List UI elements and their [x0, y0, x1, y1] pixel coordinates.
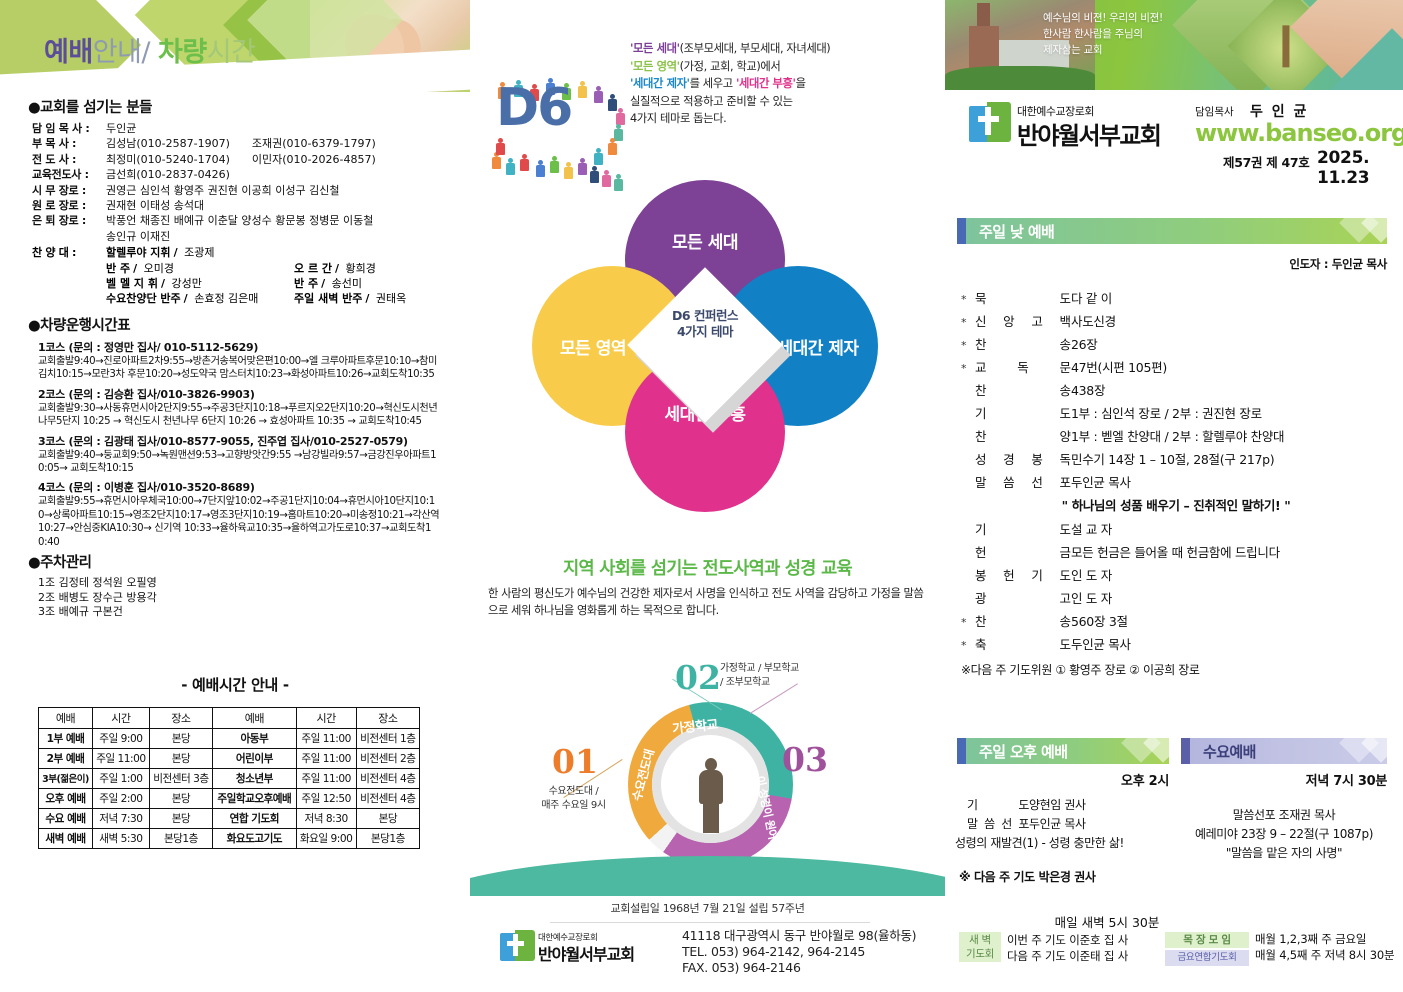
staff-role-label: 원 로 장로 :: [32, 198, 106, 213]
table-header-row: 예배시간장소예배시간장소: [39, 707, 420, 728]
staff-row: 전 도 사 :최정미(010-5240-1704)이민자(010-2026-48…: [32, 152, 470, 167]
mission-body: 한 사람의 평신도가 예수님의 건강한 제자로서 사명을 인식하고 전도 사역을…: [488, 585, 928, 619]
table-cell: 주일학교오후예배: [213, 788, 297, 808]
afternoon-sermon-title: 성령의 재발견(1) - 성령 충만한 삶!: [955, 834, 1182, 853]
order-label: 축도: [975, 634, 1071, 653]
donut-number-03: 03: [782, 740, 828, 779]
bus-course: 3코스 (문의 : 김광태 집사/010-8577-9055, 진주엽 집사/0…: [38, 433, 470, 476]
choir-role-group-2: 반 주/ 송선미: [294, 276, 362, 291]
table-cell: 청소년부: [213, 768, 297, 788]
d6-desc-l1a: '모든 세대': [630, 42, 680, 55]
table-cell: 비전센터 2층: [356, 748, 419, 768]
table-body: 1부 예배주일 9:00본당아동부주일 11:00비전센터 1층2부 예배주일 …: [39, 728, 420, 848]
table-cell: 아동부: [213, 728, 297, 748]
right-panel: 예수님의 비젼! 우리의 비젼! 한사람 한사람을 주님의 제자삼는 교회 대한…: [945, 0, 1403, 992]
order-value: 47번(시편 105편): [1071, 357, 1167, 376]
church-founding-text: 교회설립일 1968년 7월 21일 설립 57주년: [470, 900, 945, 916]
footer-divider: [550, 922, 870, 923]
choir-row: 찬 양 대 :할렐루야 지휘/ 조광제: [32, 245, 470, 260]
person-silhouette-icon: [698, 758, 724, 833]
staff-name-value: 두인균: [106, 121, 136, 136]
sub-worship-row: 말씀선포 조재권 목사: [1181, 806, 1387, 825]
friday-prayer-tag: 금요연합기도회: [1165, 950, 1249, 966]
choir-role: 반 주: [106, 262, 130, 275]
venn-label-left: 모든 영역: [560, 334, 626, 359]
table-cell: 3부(젊은이): [39, 768, 93, 788]
staff-name-value: 권영근 심인석 황영주 권진현 이공희 이성구 김신철: [106, 183, 340, 198]
order-star: *: [961, 639, 975, 652]
worship-order-row: 봉헌기도인 도 자: [961, 565, 1391, 588]
church-logo-icon-header: [969, 102, 1011, 146]
sub-worship-row: 말씀선포두인균 목사: [967, 815, 1182, 834]
table-cell: 비전센터 4층: [356, 788, 419, 808]
d6-desc-l2b: (가정, 교회, 학교)에서: [680, 60, 781, 73]
choir-role-group: 할렐루야 지휘/ 조광제: [106, 245, 294, 260]
order-label: 말씀선포: [975, 472, 1071, 491]
order-value: 인 도 자: [1071, 565, 1112, 584]
order-value: 설 교 자: [1071, 519, 1112, 538]
friday-prayer-schedule: 매월 4,5째 주 저녁 8시 30분: [1255, 947, 1394, 963]
table-cell: 주일 11:00: [296, 728, 356, 748]
staff-name-value: 권재현 이태성 송석대: [106, 198, 204, 213]
staff-row: 교육전도사 :금선희(010-2837-0426): [32, 167, 470, 182]
choir-section-label: [32, 261, 106, 276]
pastor-name: 두 인 균: [1250, 101, 1308, 121]
parking-section-heading: ●주차관리: [28, 551, 470, 572]
volume-number: 제57권 제 47호: [1223, 152, 1310, 171]
staff-name-value-2: 이민자(010-2026-4857): [252, 152, 376, 167]
table-cell: 주일 12:50: [296, 788, 356, 808]
choir-role: 할렐루야 지휘: [106, 246, 171, 259]
sub-worship-row: 기도양현임 권사: [967, 796, 1182, 815]
venn-center-label: D6 컨퍼런스 4가지 테마: [650, 308, 760, 340]
worship-table-title: - 예배시간 안내 -: [0, 674, 470, 695]
order-star: *: [961, 293, 975, 306]
person-figure-icon: [506, 158, 516, 176]
dawn-prayer-tag: 새 벽 기도회: [959, 932, 1001, 962]
person-figure-icon: [578, 158, 588, 176]
donut-text-02: 가정학교 / 부모학교 / 조부모학교: [720, 662, 860, 690]
order-label: 광고: [975, 588, 1071, 607]
order-value: 사도신경: [1071, 311, 1116, 330]
dawn-prayer-time: 매일 새벽 5시 30분: [957, 912, 1257, 931]
table-cell: 저녁 7:30: [92, 808, 149, 828]
order-value: 560장 3절: [1071, 611, 1128, 630]
dawn-prayer-this-week: 이번 주 기도 이준호 집 사: [1007, 932, 1128, 948]
parking-group: 1조 김정테 정석원 오필영: [38, 576, 470, 591]
order-star: *: [961, 616, 975, 629]
footer-church-name: 반야월서부교회: [538, 941, 634, 965]
table-cell: 본당: [356, 808, 419, 828]
worship-order-row: 찬송438장: [961, 380, 1391, 403]
bus-section-heading: ●차량운행시간표: [28, 314, 470, 335]
order-value: 민수기 14장 1 – 10절, 28절(구 217p): [1071, 449, 1274, 468]
bus-course-route: 교회출발9:30→사동휴먼시아2단지9:55→주공3단지10:18→푸르지오2단…: [38, 402, 440, 429]
staff-role-label: 부 목 사 :: [32, 136, 106, 151]
worship-order-row: 찬양1부 : 벧엘 찬양대 / 2부 : 할렐루야 찬양대: [961, 426, 1391, 449]
church-name: 반야월서부교회: [1017, 116, 1160, 151]
choir-role-group: 수요찬양단 반주/ 손효정 김은매: [106, 291, 294, 306]
worship-order-row: *찬송560장 3절: [961, 611, 1391, 634]
worship-order-row: 헌금모든 헌금은 들어올 때 헌금함에 드립니다: [961, 542, 1391, 565]
order-value: 26장: [1071, 334, 1098, 353]
d6-desc-l3b: 를 세우고: [690, 77, 736, 90]
church-logo-icon: [500, 930, 535, 965]
left-body: ●교회를 섬기는 분들 담 임 목 사 :두인균부 목 사 :김성남(010-2…: [0, 96, 470, 849]
order-value: 인 도 자: [1071, 588, 1112, 607]
order-label: 찬송: [975, 334, 1071, 353]
decorative-wave: [470, 848, 945, 896]
choir-role: 벨 멜 지 휘: [106, 277, 158, 290]
church-website-url[interactable]: www.banseo.org: [1195, 119, 1403, 147]
table-cell: 주일 11:00: [296, 748, 356, 768]
footer-address: 41118 대구광역시 동구 반야월로 98(율하동) TEL. 053) 96…: [682, 928, 916, 976]
dawn-prayer-next-week: 다음 주 기도 이준태 집 사: [1007, 948, 1128, 964]
title-part-3: 차량: [158, 37, 207, 68]
bus-course-list: 1코스 (문의 : 정영만 집사/ 010-5112-5629)교회출발9:40…: [0, 339, 470, 549]
d6-desc-l1b: (조부모세대, 부모세대, 자녀세대): [680, 42, 831, 55]
order-star: *: [961, 362, 975, 375]
sub-order-label: 기도: [967, 796, 1029, 815]
table-cell: 비전센터 1층: [356, 728, 419, 748]
person-figure-icon: [550, 156, 560, 174]
d6-logo-text: D6: [496, 78, 571, 138]
choir-role: 수요찬양단 반주: [106, 292, 181, 305]
d6-desc-l3d: 을: [796, 77, 806, 90]
order-label: 찬송: [975, 611, 1071, 630]
right-banner: [945, 0, 1403, 90]
order-label: 헌금: [975, 542, 1071, 561]
parking-list: 1조 김정테 정석원 오필영2조 배병도 장수근 방용각3조 배예규 구본건: [38, 576, 470, 620]
wednesday-worship-order: 말씀선포 조재권 목사 예레미야 23장 9 – 22절(구 1087p) "말…: [1181, 806, 1387, 863]
next-week-prayer-committee: ※다음 주 기도위원 ① 황영주 장로 ② 이공희 장로: [961, 661, 1391, 678]
afternoon-worship-order: 기도양현임 권사말씀선포두인균 목사 성령의 재발견(1) - 성령 충만한 삶…: [967, 796, 1182, 853]
vision-statement: 예수님의 비젼! 우리의 비젼! 한사람 한사람을 주님의 제자삼는 교회: [1043, 10, 1163, 58]
parking-group: 3조 배예규 구본건: [38, 605, 470, 620]
table-column-header: 예배: [39, 707, 93, 728]
staff-name-value: 김성남(010-2587-1907): [106, 136, 230, 151]
sub-order-value: 두인균 목사: [1029, 815, 1086, 834]
bus-course-title: 2코스 (문의 : 김승환 집사/010-3826-9903): [38, 386, 470, 402]
d6-desc-l3c: '세대간 부흥': [736, 77, 796, 90]
order-label: 찬양: [975, 426, 1071, 445]
bus-course-route: 교회출발9:55→휴먼시아우체국10:00→7단지앞10:02→주공1단지10:…: [38, 495, 440, 549]
table-column-header: 장소: [356, 707, 419, 728]
worship-order-row: 성경봉독민수기 14장 1 – 10절, 28절(구 217p): [961, 449, 1391, 472]
table-cell: 주일 11:00: [92, 748, 149, 768]
table-column-header: 시간: [92, 707, 149, 728]
worship-order-row: 기도1부 : 심인석 장로 / 2부 : 권진현 장로: [961, 403, 1391, 426]
staff-list: 담 임 목 사 :두인균부 목 사 :김성남(010-2587-1907)조재권…: [32, 121, 470, 244]
table-cell: 새벽 예배: [39, 828, 93, 848]
center-panel: D6 '모든 세대'(조부모세대, 부모세대, 자녀세대) '모든 영역'(가정…: [470, 0, 945, 992]
morning-worship-title: 주일 낮 예배: [979, 221, 1054, 242]
bus-course: 4코스 (문의 : 이병훈 집사/010-3520-8689)교회출발9:55→…: [38, 479, 470, 549]
bus-course: 1코스 (문의 : 정영만 집사/ 010-5112-5629)교회출발9:40…: [38, 339, 470, 382]
table-column-header: 예배: [213, 707, 297, 728]
d6-desc-l5: 4가지 테마로 돕는다.: [630, 110, 930, 128]
staff-name-value: 금선희(010-2837-0426): [106, 167, 230, 182]
table-row: 오후 예배주일 2:00본당주일학교오후예배주일 12:50비전센터 4층: [39, 788, 420, 808]
order-star: *: [961, 316, 975, 329]
donut-number-01: 01: [552, 742, 598, 781]
choir-row: 벨 멜 지 휘/ 강성만반 주/ 송선미: [32, 276, 470, 291]
section-bar-wednesday-worship: 수요예배: [1181, 738, 1387, 764]
order-value: 모든 헌금은 들어올 때 헌금함에 드립니다: [1071, 542, 1280, 561]
person-figure-icon: [520, 154, 530, 172]
venn-center-line2: 4가지 테마: [650, 324, 760, 340]
choir-role-group: 벨 멜 지 휘/ 강성만: [106, 276, 294, 291]
staff-role-label: 담 임 목 사 :: [32, 121, 106, 136]
table-row: 새벽 예배새벽 5:30본당1층화요도고기도화요일 9:00본당1층: [39, 828, 420, 848]
table-cell: 주일 2:00: [92, 788, 149, 808]
table-cell: 새벽 5:30: [92, 828, 149, 848]
order-label: 기도: [975, 519, 1071, 538]
table-cell: 2부 예배: [39, 748, 93, 768]
staff-name-value: 박풍언 채종진 배예규 이춘달 양성수 황문봉 정병문 이동철: [106, 213, 373, 228]
table-cell: 본당: [149, 788, 212, 808]
morning-sermon-title: " 하나님의 성품 배우기 – 진취적인 말하기! ": [961, 495, 1391, 519]
table-row: 1부 예배주일 9:00본당아동부주일 11:00비전센터 1층: [39, 728, 420, 748]
choir-row: 수요찬양단 반주/ 손효정 김은매주일 새벽 반주/ 권태옥: [32, 291, 470, 306]
afternoon-worship-title: 주일 오후 예배: [979, 741, 1067, 762]
order-label: 교독문: [975, 357, 1071, 376]
choir-person: 오미경: [140, 262, 174, 275]
staff-name-value: 최정미(010-5240-1704): [106, 152, 230, 167]
order-label: 묵도: [975, 288, 1071, 307]
choir-role-group: 반 주/ 오미경: [106, 261, 294, 276]
title-part-2: 안내/: [93, 37, 158, 68]
staff-name-value-2: 조재권(010-6379-1797): [252, 136, 376, 151]
page-title: 예배안내/ 차량시간: [44, 30, 255, 69]
staff-row: 은 퇴 장로 :박풍언 채종진 배예규 이춘달 양성수 황문봉 정병문 이동철: [32, 213, 470, 228]
staff-continuation: 송인규 이재진: [106, 229, 470, 244]
order-value: 두인균 목사: [1071, 472, 1131, 491]
person-figure-icon: [594, 86, 604, 104]
table-cell: 주일 1:00: [92, 768, 149, 788]
staff-row: 부 목 사 :김성남(010-2587-1907)조재권(010-6379-17…: [32, 136, 470, 151]
donut-text-01: 수요전도대 / 매주 수요일 9시: [516, 785, 631, 813]
venn-label-top: 모든 세대: [672, 228, 738, 253]
worship-order-row: *축도두인균 목사: [961, 634, 1391, 657]
morning-worship-order: *묵도다 같 이*신앙고백사도신경*찬송26장*교독문47번(시편 105편)찬…: [961, 288, 1391, 678]
order-star: *: [961, 339, 975, 352]
afternoon-next-prayer: ※ 다음 주 기도 박은경 권사: [959, 868, 1209, 887]
table-row: 2부 예배주일 11:00본당어린이부주일 11:00비전센터 2층: [39, 748, 420, 768]
venn-diagram: 모든 세대 모든 영역 세대간 제자 세대간 부흥 D6 컨퍼런스 4가지 테마: [490, 180, 920, 510]
worship-order-row: *신앙고백사도신경: [961, 311, 1391, 334]
section-bar-morning-worship: 주일 낮 예배: [957, 218, 1387, 244]
bus-course-route: 교회출발9:40→둥교회9:50→녹원맨션9:53→고향방앗간9:55 →남강빌…: [38, 449, 440, 476]
venn-center-line1: D6 컨퍼런스: [650, 308, 760, 324]
order-value: 다 같 이: [1071, 288, 1112, 307]
worship-order-row: *찬송26장: [961, 334, 1391, 357]
order-value: 438장: [1071, 380, 1105, 399]
d6-desc-l3a: '세대간 제자': [630, 77, 690, 90]
worship-order-row: 광고인 도 자: [961, 588, 1391, 611]
pastoral-meeting-schedule: 매월 1,2,3째 주 금요일: [1255, 931, 1394, 947]
d6-desc-l2a: '모든 영역': [630, 60, 680, 73]
bus-course-title: 4코스 (문의 : 이병훈 집사/010-3520-8689): [38, 479, 470, 495]
table-cell: 화요일 9:00: [296, 828, 356, 848]
choir-role-group-2: 주일 새벽 반주/ 권태옥: [294, 291, 406, 306]
choir-role-2: 오 르 간: [294, 262, 332, 275]
bus-course-route: 교회출발9:40→진로아파트2차9:55→방촌거송복어맞은편10:00→엘 크루…: [38, 355, 440, 382]
choir-section-label: 찬 양 대 :: [32, 245, 106, 260]
order-value: 1부 : 심인석 장로 / 2부 : 권진현 장로: [1071, 403, 1262, 422]
choir-person: 조광제: [181, 246, 215, 259]
d6-desc-l4: 실질적으로 적용하고 준비할 수 있는: [630, 93, 930, 111]
order-label: 봉헌기도: [975, 565, 1071, 584]
worship-schedule-table: 예배시간장소예배시간장소 1부 예배주일 9:00본당아동부주일 11:00비전…: [38, 707, 420, 849]
bus-course-title: 1코스 (문의 : 정영만 집사/ 010-5112-5629): [38, 339, 470, 355]
choir-person-2: 황희경: [342, 262, 376, 275]
sub-order-value: 양현임 권사: [1029, 796, 1086, 815]
order-label: 기도: [975, 403, 1071, 422]
table-cell: 비전센터 4층: [356, 768, 419, 788]
sub-order-label: 말씀선포: [967, 815, 1029, 834]
choir-person-2: 권태옥: [372, 292, 406, 305]
church-bulletin-page: 예배안내/ 차량시간 ●교회를 섬기는 분들 담 임 목 사 :두인균부 목 사…: [0, 0, 1403, 992]
order-label: 신앙고백: [975, 311, 1071, 330]
dawn-prayer-lines: 이번 주 기도 이준호 집 사 다음 주 기도 이준태 집 사: [1007, 932, 1128, 964]
order-value: 1부 : 벧엘 찬양대 / 2부 : 할렐루야 찬양대: [1071, 426, 1284, 445]
order-label: 찬송: [975, 380, 1071, 399]
order-label: 성경봉독: [975, 449, 1071, 468]
pastoral-meeting-tag: 목 장 모 임: [1165, 932, 1249, 948]
choir-person-2: 송선미: [328, 277, 362, 290]
worship-order-row: *묵도다 같 이: [961, 288, 1391, 311]
wednesday-sermon-title: "말씀을 맡은 자의 사명": [1181, 844, 1387, 863]
d6-description: '모든 세대'(조부모세대, 부모세대, 자녀세대) '모든 영역'(가정, 교…: [630, 40, 930, 128]
choir-section-label: [32, 276, 106, 291]
afternoon-worship-time: 오후 2시: [957, 770, 1169, 789]
table-cell: 저녁 8:30: [296, 808, 356, 828]
bus-course: 2코스 (문의 : 김승환 집사/010-3826-9903)교회출발9:30→…: [38, 386, 470, 429]
parking-section: ●주차관리 1조 김정테 정석원 오필영2조 배병도 장수근 방용각3조 배예규…: [0, 551, 470, 620]
table-row: 3부(젊은이)주일 1:00비전센터 3층청소년부주일 11:00비전센터 4층: [39, 768, 420, 788]
staff-role-label: 시 무 장로 :: [32, 183, 106, 198]
pastor-label: 담임목사: [1195, 104, 1234, 119]
person-figure-icon: [564, 162, 574, 180]
wednesday-scripture: 예레미야 23장 9 – 22절(구 1087p): [1181, 825, 1387, 844]
mission-title: 지역 사회를 섬기는 전도사역과 성경 교육: [480, 555, 935, 580]
staff-row: 시 무 장로 :권영근 심인석 황영주 권진현 이공희 이성구 김신철: [32, 183, 470, 198]
table-cell: 연합 기도회: [213, 808, 297, 828]
table-cell: 본당: [149, 808, 212, 828]
worship-order-row: 기도설 교 자: [961, 519, 1391, 542]
table-cell: 화요도고기도: [213, 828, 297, 848]
person-figure-icon: [496, 138, 506, 156]
choir-person: 손효정 김은매: [191, 292, 259, 305]
table-cell: 1부 예배: [39, 728, 93, 748]
choir-section-label: [32, 291, 106, 306]
table-column-header: 시간: [296, 707, 356, 728]
choir-role-2: 반 주: [294, 277, 318, 290]
worship-order-row: 말씀선포두인균 목사: [961, 472, 1391, 495]
choir-role-group-2: 오 르 간/ 황희경: [294, 261, 376, 276]
bus-course-title: 3코스 (문의 : 김광태 집사/010-8577-9055, 진주엽 집사/0…: [38, 433, 470, 449]
morning-worship-leader: 인도자 : 두인균 목사: [945, 256, 1387, 272]
table-cell: 오후 예배: [39, 788, 93, 808]
staff-role-label: 교육전도사 :: [32, 167, 106, 182]
bulletin-date: 2025. 11.23: [1317, 148, 1403, 188]
bus-section: ●차량운행시간표 1코스 (문의 : 정영만 집사/ 010-5112-5629…: [0, 314, 470, 549]
wednesday-worship-time: 저녁 7시 30분: [1181, 770, 1387, 789]
table-cell: 본당: [149, 748, 212, 768]
table-row: 수요 예배저녁 7:30본당연합 기도회저녁 8:30본당: [39, 808, 420, 828]
table-column-header: 장소: [149, 707, 212, 728]
table-cell: 어린이부: [213, 748, 297, 768]
staff-role-label: 전 도 사 :: [32, 152, 106, 167]
staff-section-heading: ●교회를 섬기는 분들: [28, 96, 470, 117]
choir-list: 찬 양 대 :할렐루야 지휘/ 조광제반 주/ 오미경오 르 간/ 황희경벨 멜…: [32, 245, 470, 307]
person-figure-icon: [594, 148, 604, 166]
title-part-4: 시간: [207, 37, 256, 68]
person-figure-icon: [608, 138, 618, 156]
table-cell: 본당: [149, 728, 212, 748]
staff-row: 담 임 목 사 :두인균: [32, 121, 470, 136]
table-cell: 주일 11:00: [296, 768, 356, 788]
staff-row: 원 로 장로 :권재현 이태성 송석대: [32, 198, 470, 213]
choir-row: 반 주/ 오미경오 르 간/ 황희경: [32, 261, 470, 276]
table-cell: 비전센터 3층: [149, 768, 212, 788]
meeting-schedule-lines: 매월 1,2,3째 주 금요일 매월 4,5째 주 저녁 8시 30분: [1255, 931, 1394, 963]
order-value: 두인균 목사: [1071, 634, 1131, 653]
choir-role-2: 주일 새벽 반주: [294, 292, 362, 305]
person-figure-icon: [578, 81, 588, 99]
person-figure-icon: [536, 160, 546, 178]
table-cell: 주일 9:00: [92, 728, 149, 748]
title-part-1: 예배: [44, 37, 93, 68]
donut-number-02: 02: [675, 658, 721, 697]
parking-group: 2조 배병도 장수근 방용각: [38, 591, 470, 606]
choir-person: 강성만: [168, 277, 202, 290]
staff-role-label: 은 퇴 장로 :: [32, 213, 106, 228]
section-bar-afternoon-worship: 주일 오후 예배: [957, 738, 1169, 764]
table-cell: 본당1층: [356, 828, 419, 848]
table-cell: 수요 예배: [39, 808, 93, 828]
table-cell: 본당1층: [149, 828, 212, 848]
wednesday-worship-title: 수요예배: [1203, 741, 1256, 762]
left-panel: 예배안내/ 차량시간 ●교회를 섬기는 분들 담 임 목 사 :두인균부 목 사…: [0, 0, 470, 992]
worship-order-row: *교독문47번(시편 105편): [961, 357, 1391, 380]
